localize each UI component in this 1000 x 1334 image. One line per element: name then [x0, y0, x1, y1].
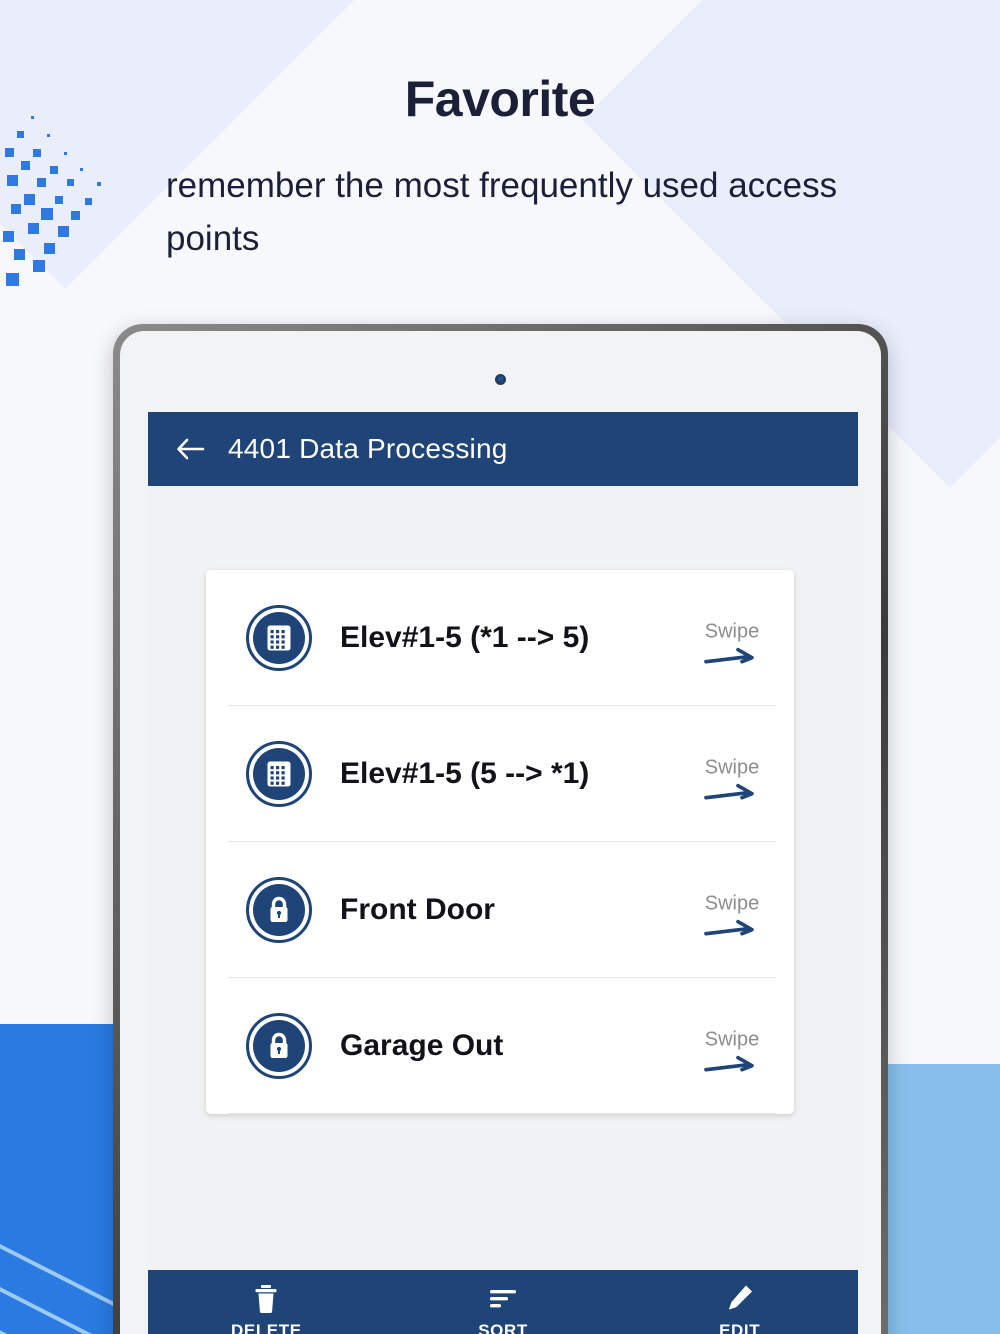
- arrow-right-icon: [704, 647, 760, 672]
- decorative-square: [7, 175, 18, 186]
- decorative-square: [44, 243, 55, 254]
- nav-button-label: DELETE: [231, 1321, 302, 1334]
- app-screen: 4401 Data Processing Elev#1-5 (*1 --> 5)…: [148, 412, 858, 1334]
- list-divider: [228, 1113, 776, 1114]
- nav-button-delete[interactable]: DELETE: [148, 1270, 385, 1334]
- decorative-square: [17, 131, 24, 138]
- decorative-square: [85, 198, 92, 205]
- camera-icon: [495, 374, 506, 385]
- favorites-card: Elev#1-5 (*1 --> 5) Swipe Elev#1-5 (5 --…: [206, 570, 794, 1114]
- decorative-square: [24, 194, 35, 205]
- decorative-square: [11, 204, 21, 214]
- promo-heading-block: Favorite: [0, 70, 1000, 128]
- dot-pattern: [0, 105, 140, 300]
- app-bar: 4401 Data Processing: [148, 412, 858, 486]
- lock-icon: [253, 1020, 305, 1072]
- access-point-label: Elev#1-5 (*1 --> 5): [340, 621, 589, 655]
- list-item[interactable]: Front Door Swipe: [206, 842, 794, 978]
- lock-icon: [253, 884, 305, 936]
- sort-icon: [488, 1283, 518, 1315]
- arrow-right-icon: [704, 1055, 760, 1080]
- pencil-icon: [726, 1283, 754, 1315]
- swipe-hint[interactable]: Swipe: [704, 757, 760, 808]
- access-point-icon-ring: [246, 605, 312, 671]
- back-arrow-icon[interactable]: [174, 432, 208, 466]
- decorative-square: [47, 134, 50, 137]
- nav-button-sort[interactable]: SORT: [385, 1270, 622, 1334]
- elevator-keypad-icon: [253, 612, 305, 664]
- trash-icon: [253, 1283, 279, 1315]
- promo-title: Favorite: [0, 70, 1000, 128]
- swipe-label: Swipe: [705, 1029, 759, 1052]
- decorative-square: [97, 182, 101, 186]
- decorative-square: [28, 223, 39, 234]
- elevator-keypad-icon: [253, 748, 305, 800]
- list-item[interactable]: Elev#1-5 (*1 --> 5) Swipe: [206, 570, 794, 706]
- swipe-label: Swipe: [705, 757, 759, 780]
- access-point-label: Garage Out: [340, 1029, 503, 1063]
- decorative-square: [55, 196, 63, 204]
- swipe-label: Swipe: [705, 893, 759, 916]
- arrow-right-icon: [704, 919, 760, 944]
- swipe-hint[interactable]: Swipe: [704, 893, 760, 944]
- decorative-square: [6, 273, 19, 286]
- swipe-hint[interactable]: Swipe: [704, 621, 760, 672]
- tablet-device-frame: 4401 Data Processing Elev#1-5 (*1 --> 5)…: [113, 324, 888, 1334]
- arrow-right-icon: [704, 783, 760, 808]
- decorative-square: [67, 179, 74, 186]
- nav-button-label: SORT: [478, 1321, 528, 1334]
- promo-screenshot: Favorite remember the most frequently us…: [0, 0, 1000, 1334]
- bottom-navigation-bar: DELETE SORT EDIT: [148, 1270, 858, 1334]
- access-point-icon-ring: [246, 741, 312, 807]
- tablet-bezel: 4401 Data Processing Elev#1-5 (*1 --> 5)…: [120, 331, 881, 1334]
- access-point-icon-ring: [246, 877, 312, 943]
- decorative-square: [64, 152, 67, 155]
- swipe-hint[interactable]: Swipe: [704, 1029, 760, 1080]
- access-point-label: Front Door: [340, 893, 495, 927]
- swipe-label: Swipe: [705, 621, 759, 644]
- decorative-square: [3, 231, 14, 242]
- list-item[interactable]: Garage Out Swipe: [206, 978, 794, 1114]
- list-item[interactable]: Elev#1-5 (5 --> *1) Swipe: [206, 706, 794, 842]
- decorative-square: [21, 161, 30, 170]
- decorative-square: [5, 148, 14, 157]
- decorative-square: [50, 166, 58, 174]
- access-point-icon-ring: [246, 1013, 312, 1079]
- decorative-square: [37, 178, 46, 187]
- decorative-square: [80, 168, 83, 171]
- decorative-square: [33, 260, 45, 272]
- decorative-square: [71, 211, 80, 220]
- decorative-square: [58, 226, 69, 237]
- nav-button-edit[interactable]: EDIT: [621, 1270, 858, 1334]
- access-point-label: Elev#1-5 (5 --> *1): [340, 757, 589, 791]
- decorative-square: [33, 149, 41, 157]
- nav-button-label: EDIT: [719, 1321, 760, 1334]
- decorative-square: [14, 249, 25, 260]
- promo-subtitle: remember the most frequently used access…: [166, 160, 866, 265]
- decorative-square: [41, 208, 53, 220]
- app-bar-title: 4401 Data Processing: [228, 433, 508, 465]
